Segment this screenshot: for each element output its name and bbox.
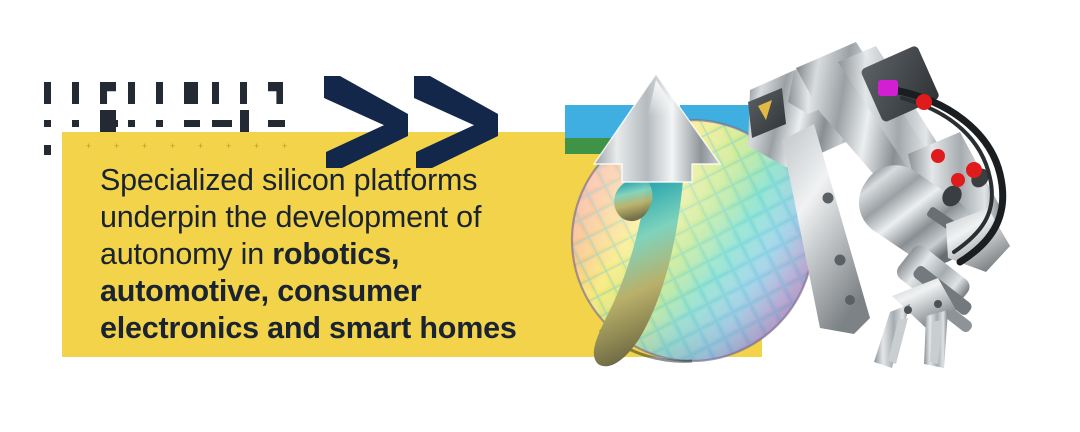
dot-grid-cell bbox=[128, 82, 135, 104]
transparency-speckle bbox=[560, 72, 567, 79]
dot-grid-cell bbox=[268, 120, 285, 127]
double-chevron-arrow bbox=[322, 72, 502, 168]
dot-grid-cell bbox=[72, 82, 79, 104]
dot-grid-cell bbox=[184, 120, 200, 127]
dot-grid-cell bbox=[128, 120, 135, 127]
plus-tick-mark: + bbox=[282, 142, 287, 151]
dot-grid-cell bbox=[100, 110, 116, 132]
dot-grid-cell bbox=[44, 120, 51, 127]
transparency-speckle bbox=[635, 48, 644, 57]
plus-tick-mark: + bbox=[114, 142, 119, 151]
plus-tick-mark: + bbox=[86, 142, 91, 151]
dot-grid-cell bbox=[268, 82, 283, 104]
robot-arm bbox=[742, 28, 1052, 368]
dot-grid-cell bbox=[156, 82, 163, 104]
transparency-speckle bbox=[545, 50, 553, 58]
transparency-speckle bbox=[581, 45, 590, 54]
plus-tick-mark: + bbox=[142, 142, 147, 151]
metallic-up-arrow bbox=[588, 72, 728, 372]
plus-tick-mark: + bbox=[198, 142, 203, 151]
headline-text: Specialized silicon platforms underpin t… bbox=[100, 162, 560, 347]
transparency-speckle bbox=[533, 98, 542, 107]
dot-grid-cell bbox=[44, 145, 51, 155]
dot-grid-cell bbox=[212, 120, 232, 127]
transparency-speckle bbox=[600, 57, 608, 65]
plus-tick-mark: + bbox=[254, 142, 259, 151]
plus-tick-mark: + bbox=[170, 142, 175, 151]
transparency-speckle bbox=[655, 62, 663, 70]
dot-grid-cell bbox=[44, 82, 51, 104]
dot-grid-cell bbox=[72, 120, 79, 127]
dot-grid-cell bbox=[184, 82, 198, 104]
plus-tick-mark: + bbox=[226, 142, 231, 151]
dot-grid-cell bbox=[212, 82, 219, 104]
dot-grid-cell bbox=[156, 120, 163, 127]
dot-grid-cell bbox=[240, 82, 247, 104]
dot-grid-cell bbox=[100, 82, 116, 104]
infographic-banner: Specialized silicon platforms underpin t… bbox=[0, 0, 1080, 432]
